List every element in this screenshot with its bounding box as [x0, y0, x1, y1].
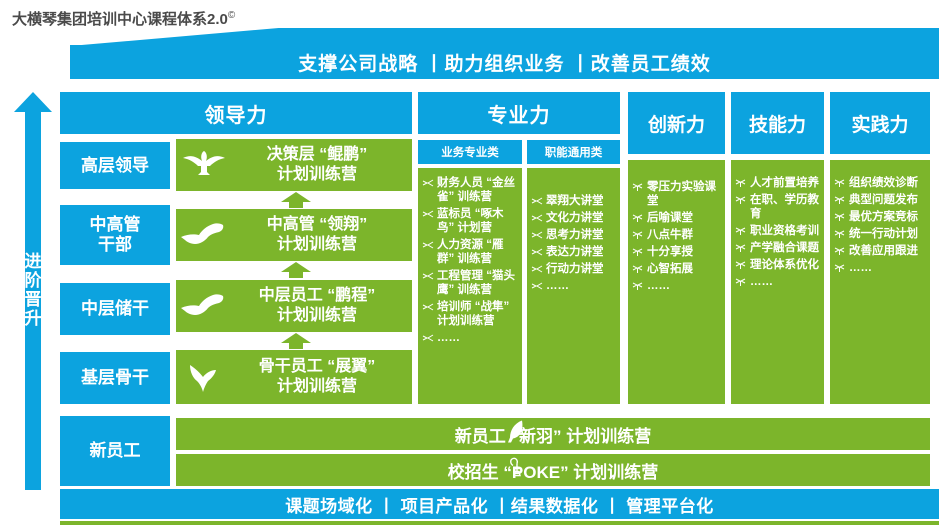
skill-items-list: 人才前置培养 在职、学历教育 职业资格考训 产学融合课题 理论体系优化 ……	[731, 160, 824, 404]
bullet-bird-icon	[531, 212, 543, 224]
bullet-dove-icon	[834, 262, 846, 274]
level-label-frontline[interactable]: 基层骨干	[60, 352, 170, 404]
column-header-leadership[interactable]: 领导力	[60, 92, 412, 134]
flying-bird-icon	[176, 221, 232, 249]
list-item-label: 后喻课堂	[647, 212, 693, 224]
bullet-dove-icon	[834, 194, 846, 206]
bullet-bird-icon	[531, 263, 543, 275]
list-item[interactable]: 八点牛群	[632, 228, 721, 242]
bullet-bird-icon	[531, 280, 543, 292]
page-title-text: 大横琴集团培训中心课程体系2.0	[12, 11, 228, 28]
leadership-program-3-line2: 计划训练营	[232, 306, 402, 326]
list-item[interactable]: 行动力讲堂	[531, 262, 616, 276]
list-item-label: 人力资源 “雁群” 训练营	[437, 239, 503, 265]
bullet-dove-icon	[834, 211, 846, 223]
bullet-bird-icon	[531, 246, 543, 258]
list-item-label: ……	[849, 262, 872, 274]
level-label-middle-senior-line1: 中高管	[90, 215, 141, 235]
feather-icon	[506, 420, 528, 449]
progression-label: 进阶晋升	[20, 252, 46, 328]
list-item[interactable]: 工程管理 “猫头鹰” 训练营	[422, 269, 518, 297]
list-item-label: 统一行动计划	[849, 228, 918, 240]
list-item-label: 典型问题发布	[849, 194, 918, 206]
roof-shape	[70, 28, 939, 46]
skill-items-ul: 人才前置培养 在职、学历教育 职业资格考训 产学融合课题 理论体系优化 ……	[735, 176, 820, 289]
bullet-bird-icon	[422, 301, 434, 313]
list-item[interactable]: 人才前置培养	[735, 176, 820, 190]
list-item-label: 十分享授	[647, 246, 693, 258]
list-item[interactable]: 统一行动计划	[834, 227, 926, 241]
list-item-label: 财务人员 “金丝雀” 训练营	[437, 177, 515, 203]
list-item[interactable]: 心智拓展	[632, 262, 721, 276]
list-item[interactable]: 表达力讲堂	[531, 245, 616, 259]
list-item[interactable]: ……	[632, 279, 721, 293]
strategy-banner-text: 支撑公司战略 丨助力组织业务 丨改善员工绩效	[298, 49, 711, 76]
bullet-bird-icon	[422, 332, 434, 344]
business-items-list: 财务人员 “金丝雀” 训练营 蓝标员 “啄木鸟” 计划营 人力资源 “雁群” 训…	[418, 168, 522, 404]
list-item-label: 理论体系优化	[750, 259, 819, 271]
list-item[interactable]: 思考力讲堂	[531, 228, 616, 242]
column-header-skill-label: 技能力	[749, 110, 806, 137]
bullet-dove-icon	[632, 229, 644, 241]
business-items-ul: 财务人员 “金丝雀” 训练营 蓝标员 “啄木鸟” 计划营 人力资源 “雁群” 训…	[422, 176, 518, 345]
footer-banner-text: 课题场域化 丨 项目产品化 丨结果数据化 丨 管理平台化	[285, 492, 714, 517]
list-item[interactable]: 文化力讲堂	[531, 211, 616, 225]
list-item[interactable]: ……	[735, 275, 820, 289]
bullet-dove-icon	[632, 280, 644, 292]
list-item[interactable]: 财务人员 “金丝雀” 训练营	[422, 176, 518, 204]
subcolumn-header-business-label: 业务专业类	[441, 144, 499, 160]
list-item[interactable]: 零压力实验课堂	[632, 180, 721, 208]
subcolumn-header-functional[interactable]: 职能通用类	[527, 140, 620, 164]
list-item-label: ……	[647, 280, 670, 292]
list-item-label: ……	[437, 332, 460, 344]
level-label-frontline-text: 基层骨干	[81, 368, 149, 388]
base-line	[60, 521, 939, 525]
bullet-dove-icon	[834, 245, 846, 257]
bullet-dove-icon	[632, 246, 644, 258]
list-item[interactable]: 蓝标员 “啄木鸟” 计划营	[422, 207, 518, 235]
leadership-program-4-line1: 骨干员工 “展翼”	[259, 358, 375, 375]
progression-arrow-1-icon	[281, 192, 311, 208]
bullet-dove-icon	[735, 242, 747, 254]
list-item-label: 行动力讲堂	[546, 263, 604, 275]
list-item[interactable]: 理论体系优化	[735, 258, 820, 272]
bullet-bird-icon	[422, 208, 434, 220]
bullet-bird-icon	[422, 177, 434, 189]
list-item[interactable]: 产学融合课题	[735, 241, 820, 255]
page-title: 大横琴集团培训中心课程体系2.0©	[12, 8, 235, 29]
list-item-label: ……	[750, 276, 773, 288]
leadership-program-4[interactable]: 骨干员工 “展翼” 计划训练营	[176, 350, 412, 404]
bullet-dove-icon	[735, 225, 747, 237]
column-header-innovation[interactable]: 创新力	[628, 92, 725, 154]
up-arrow-icon	[14, 92, 52, 128]
hummingbird-icon	[176, 361, 232, 393]
column-header-professional[interactable]: 专业力	[418, 92, 620, 134]
leadership-program-2-line1: 中高管 “领翔”	[267, 216, 367, 233]
list-item[interactable]: 最优方案竞标	[834, 210, 926, 224]
bullet-dove-icon	[735, 177, 747, 189]
list-item-label: 翠翔大讲堂	[546, 195, 604, 207]
level-label-newcomer[interactable]: 新员工	[60, 416, 170, 486]
list-item[interactable]: 后喻课堂	[632, 211, 721, 225]
leadership-program-4-line2: 计划训练营	[232, 377, 402, 397]
list-item-label: ……	[546, 280, 569, 292]
level-label-senior[interactable]: 高层领导	[60, 142, 170, 189]
list-item-label: 零压力实验课堂	[647, 181, 716, 207]
list-item[interactable]: 职业资格考训	[735, 224, 820, 238]
list-item[interactable]: ……	[422, 331, 518, 345]
list-item[interactable]: ……	[531, 279, 616, 293]
list-item-label: 心智拓展	[647, 263, 693, 275]
bullet-dove-icon	[632, 212, 644, 224]
newcomer-program-2[interactable]: 校招生 “POKE” 计划训练营	[176, 454, 930, 486]
leadership-program-3-line1: 中层员工 “鹏程”	[259, 287, 375, 304]
progression-arrow-2-icon	[281, 262, 311, 278]
leadership-program-1-line1: 决策层 “鲲鹏”	[267, 146, 367, 163]
leadership-program-3-text: 中层员工 “鹏程” 计划训练营	[232, 286, 412, 326]
level-label-senior-text: 高层领导	[81, 156, 149, 176]
level-label-middle-reserve[interactable]: 中层储干	[60, 283, 170, 335]
list-item[interactable]: 十分享授	[632, 245, 721, 259]
list-item-label: 在职、学历教育	[750, 194, 819, 220]
copyright-symbol: ©	[228, 10, 235, 21]
bullet-dove-icon	[735, 259, 747, 271]
list-item-label: 表达力讲堂	[546, 246, 604, 258]
list-item-label: 产学融合课题	[750, 242, 819, 254]
column-header-leadership-label: 领导力	[205, 99, 268, 128]
list-item-label: 职业资格考训	[750, 225, 819, 237]
strategy-banner: 支撑公司战略 丨助力组织业务 丨改善员工绩效	[70, 45, 939, 79]
list-item[interactable]: 培训师 “战隼” 计划训练营	[422, 300, 518, 328]
list-item[interactable]: 组织绩效诊断	[834, 176, 926, 190]
subcolumn-header-business[interactable]: 业务专业类	[418, 140, 522, 164]
leadership-program-1-text: 决策层 “鲲鹏” 计划训练营	[232, 145, 412, 185]
progression-arrow-3-icon	[281, 333, 311, 349]
bullet-dove-icon	[834, 177, 846, 189]
level-label-middle-reserve-text: 中层储干	[81, 299, 149, 319]
footer-banner: 课题场域化 丨 项目产品化 丨结果数据化 丨 管理平台化	[60, 489, 939, 519]
hand-ok-icon	[506, 456, 528, 485]
leadership-program-4-text: 骨干员工 “展翼” 计划训练营	[232, 357, 412, 397]
column-header-innovation-label: 创新力	[648, 110, 705, 137]
level-label-middle-senior-line2: 干部	[98, 235, 132, 255]
subcolumn-header-functional-label: 职能通用类	[545, 144, 603, 160]
list-item[interactable]: 改善应用跟进	[834, 244, 926, 258]
bullet-bird-icon	[422, 239, 434, 251]
leadership-program-2-line2: 计划训练营	[232, 235, 402, 255]
newcomer-program-2-text: 校招生 “POKE” 计划训练营	[448, 458, 659, 483]
list-item-label: 最优方案竞标	[849, 211, 918, 223]
list-item-label: 改善应用跟进	[849, 245, 918, 257]
bullet-dove-icon	[632, 263, 644, 275]
leadership-program-2-text: 中高管 “领翔” 计划训练营	[232, 215, 412, 255]
innovation-items-list: 零压力实验课堂 后喻课堂 八点牛群 十分享授 心智拓展 ……	[628, 160, 725, 404]
column-header-practice[interactable]: 实践力	[830, 92, 930, 154]
practice-items-list: 组织绩效诊断 典型问题发布 最优方案竞标 统一行动计划 改善应用跟进 ……	[830, 160, 930, 404]
list-item-label: 工程管理 “猫头鹰” 训练营	[437, 270, 515, 296]
leadership-program-3[interactable]: 中层员工 “鹏程” 计划训练营	[176, 280, 412, 332]
column-header-skill[interactable]: 技能力	[731, 92, 824, 154]
column-header-professional-label: 专业力	[488, 99, 551, 128]
list-item[interactable]: 人力资源 “雁群” 训练营	[422, 238, 518, 266]
list-item-label: 文化力讲堂	[546, 212, 604, 224]
list-item-label: 人才前置培养	[750, 177, 819, 189]
leadership-program-1-line2: 计划训练营	[232, 165, 402, 185]
list-item-label: 思考力讲堂	[546, 229, 604, 241]
bullet-dove-icon	[632, 181, 644, 193]
list-item-label: 蓝标员 “啄木鸟” 计划营	[437, 208, 503, 234]
functional-items-list: 翠翔大讲堂 文化力讲堂 思考力讲堂 表达力讲堂 行动力讲堂 ……	[527, 168, 620, 404]
list-item[interactable]: 典型问题发布	[834, 193, 926, 207]
practice-items-ul: 组织绩效诊断 典型问题发布 最优方案竞标 统一行动计划 改善应用跟进 ……	[834, 176, 926, 275]
column-header-practice-label: 实践力	[851, 110, 908, 137]
list-item[interactable]: 在职、学历教育	[735, 193, 820, 221]
leadership-program-2[interactable]: 中高管 “领翔” 计划训练营	[176, 209, 412, 261]
newcomer-program-1-text: 新员工 “新羽” 计划训练营	[455, 422, 651, 447]
bullet-dove-icon	[834, 228, 846, 240]
list-item[interactable]: 翠翔大讲堂	[531, 194, 616, 208]
innovation-items-ul: 零压力实验课堂 后喻课堂 八点牛群 十分享授 心智拓展 ……	[632, 180, 721, 293]
list-item-label: 培训师 “战隼” 计划训练营	[437, 301, 509, 327]
bullet-bird-icon	[531, 195, 543, 207]
level-label-newcomer-text: 新员工	[90, 441, 141, 461]
leadership-program-1[interactable]: 决策层 “鲲鹏” 计划训练营	[176, 139, 412, 191]
level-label-middle-senior[interactable]: 中高管 干部	[60, 205, 170, 265]
bullet-dove-icon	[735, 276, 747, 288]
list-item-label: 组织绩效诊断	[849, 177, 918, 189]
functional-items-ul: 翠翔大讲堂 文化力讲堂 思考力讲堂 表达力讲堂 行动力讲堂 ……	[531, 194, 616, 293]
bullet-bird-icon	[531, 229, 543, 241]
bullet-dove-icon	[735, 194, 747, 206]
eagle-icon	[176, 150, 232, 180]
flying-bird-icon	[176, 292, 232, 320]
newcomer-program-1[interactable]: 新员工 “新羽” 计划训练营	[176, 418, 930, 450]
course-system-diagram: 大横琴集团培训中心课程体系2.0© 支撑公司战略 丨助力组织业务 丨改善员工绩效…	[0, 0, 939, 529]
list-item-label: 八点牛群	[647, 229, 693, 241]
bullet-bird-icon	[422, 270, 434, 282]
list-item[interactable]: ……	[834, 261, 926, 275]
